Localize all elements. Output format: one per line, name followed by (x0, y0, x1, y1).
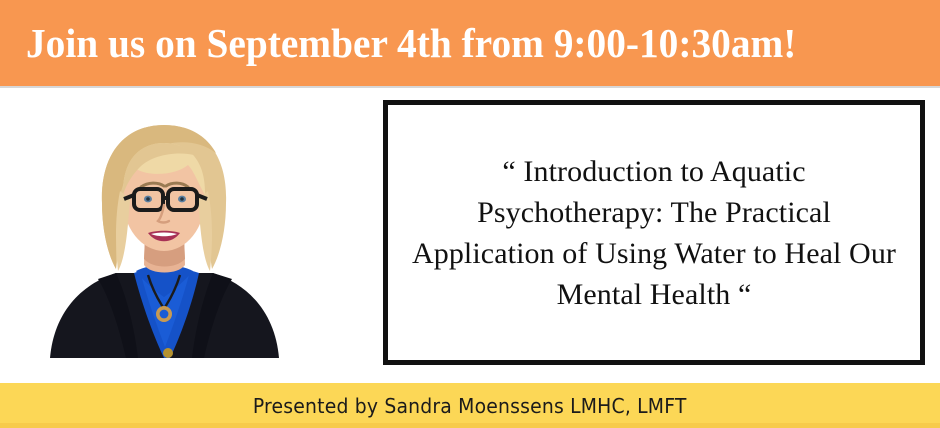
presenter-headshot-photo (38, 99, 291, 358)
banner-headline: Join us on September 4th from 9:00-10:30… (26, 20, 796, 66)
banner-header: Join us on September 4th from 9:00-10:30… (0, 0, 940, 86)
headshot-illustration (38, 99, 291, 358)
presenter-credit: Presented by Sandra Moenssens LMHC, LMFT (253, 394, 687, 418)
footer-bar: Presented by Sandra Moenssens LMHC, LMFT (0, 383, 940, 428)
event-flyer: Join us on September 4th from 9:00-10:30… (0, 0, 940, 428)
session-title-box: “ Introduction to Aquatic Psychotherapy:… (383, 100, 925, 365)
session-title: “ Introduction to Aquatic Psychotherapy:… (388, 151, 920, 315)
